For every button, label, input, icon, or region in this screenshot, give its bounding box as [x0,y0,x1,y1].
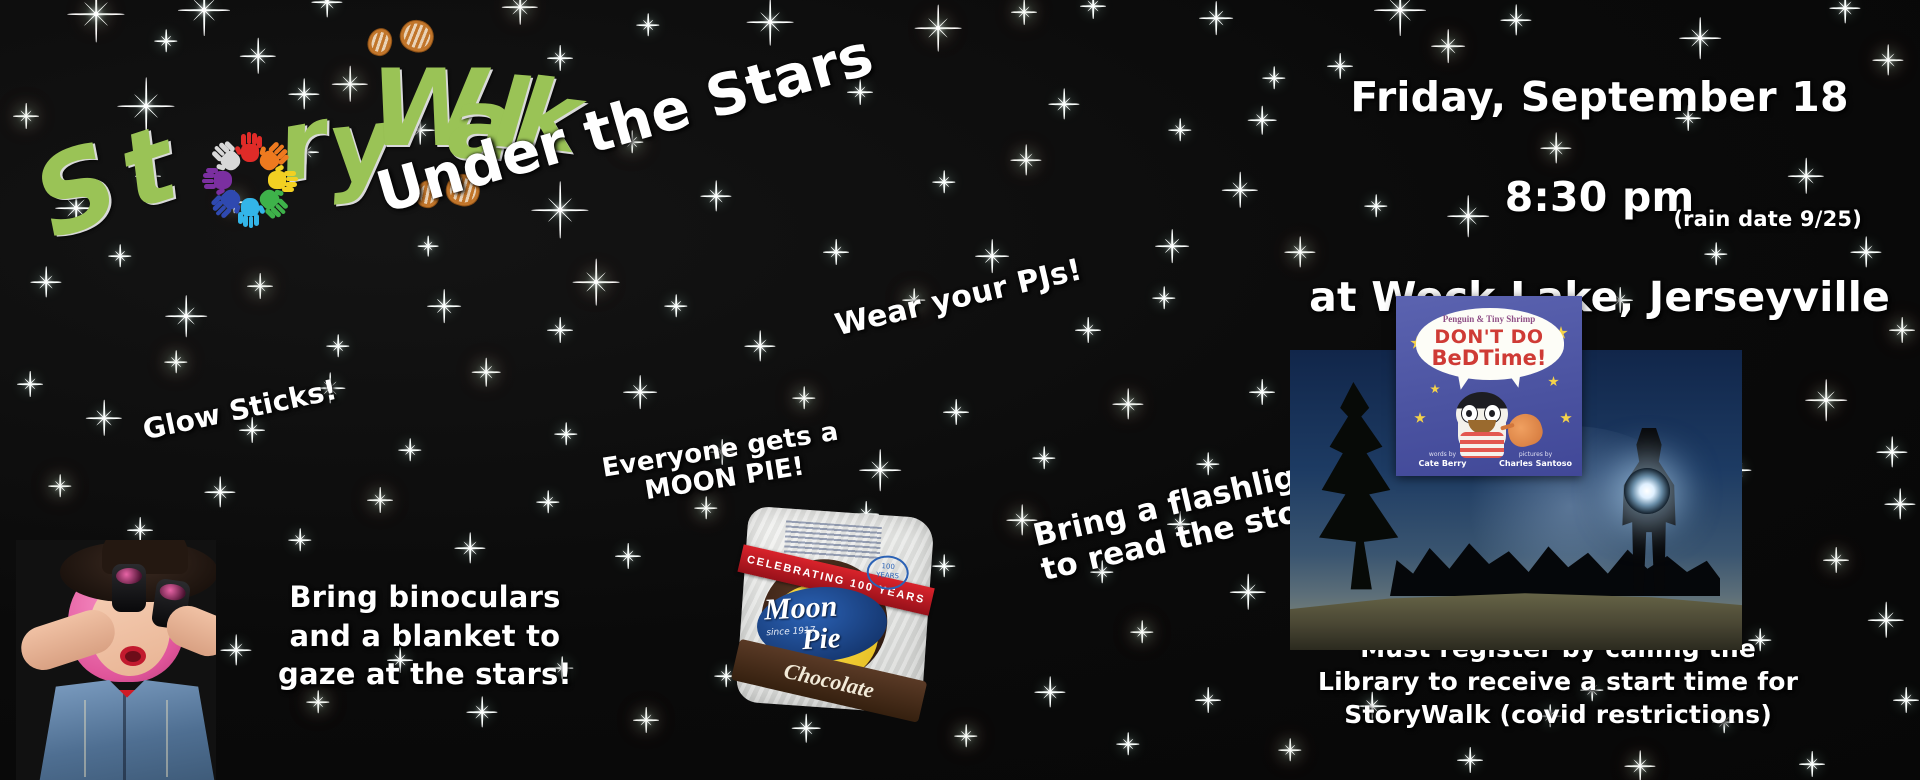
book-author-credit: words by Cate Berry [1396,450,1489,468]
moon-pie-package-photo: CELEBRATING 100 YEARS 100 YEARS Moon Pie… [735,506,934,714]
book-series-line: Penguin & Tiny Shrimp [1396,314,1582,324]
speech-bubble-tail-left [1452,366,1474,391]
lips [120,646,146,666]
book-title-line-2: BeDTime! [1396,346,1582,370]
book-cover-image: Penguin & Tiny Shrimp DON'T DO BeDTime! … [1396,296,1582,476]
tiny-shrimp-character [1504,410,1546,450]
event-date: Friday, September 18 [1309,72,1890,122]
storywalk-poster: S t r y W a l k Under the Stars Friday, … [0,0,1920,780]
author-label: words by [1429,451,1456,458]
woman-with-binoculars-photo [16,540,216,780]
book-illustrator-credit: pictures by Charles Santoso [1489,450,1582,468]
author-name: Cate Berry [1396,459,1489,468]
flashlight-beam-icon [1624,468,1670,514]
rain-date-note: (rain date 9/25) [1673,208,1862,232]
nutrition-panel [784,520,882,561]
handprint-ring-icon [204,134,296,226]
illustrator-name: Charles Santoso [1489,459,1582,468]
storywalk-logo: S t r y W a l k [28,18,548,243]
book-title-line-1: DON'T DO [1396,326,1582,348]
illustrator-label: pictures by [1519,451,1552,458]
callout-bring-binoculars: Bring binoculars and a blanket to gaze a… [278,578,572,694]
